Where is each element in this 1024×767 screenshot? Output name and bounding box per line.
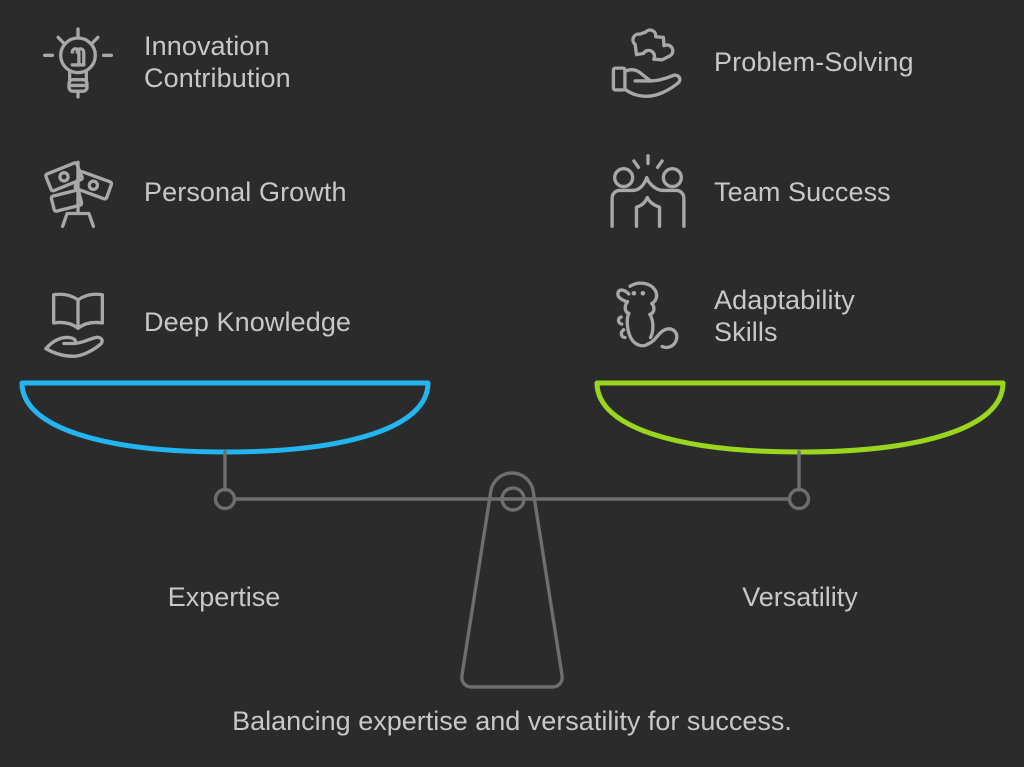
attribute-label: Problem-Solving: [714, 47, 914, 79]
right-pan-connector: [790, 452, 809, 509]
money-tree-icon: [30, 145, 126, 241]
attribute-label: Deep Knowledge: [144, 307, 351, 339]
balance-scale-graphic: [0, 370, 1024, 700]
attribute-label: Team Success: [714, 177, 891, 209]
attribute-item-innovation-contribution: InnovationContribution: [30, 8, 291, 118]
pivot-circle-icon: [216, 490, 235, 509]
attribute-label: Personal Growth: [144, 177, 347, 209]
lightbulb-icon: [30, 15, 126, 111]
left-side-title: Expertise: [74, 582, 374, 613]
attribute-item-personal-growth: Personal Growth: [30, 138, 347, 248]
attribute-item-team-success: Team Success: [600, 138, 891, 248]
balance-fulcrum: [462, 473, 562, 687]
book-in-hand-icon: [30, 275, 126, 371]
attribute-item-problem-solving: Problem-Solving: [600, 8, 914, 118]
pivot-circle-icon: [790, 490, 809, 509]
team-highfive-icon: [600, 145, 696, 241]
attribute-label: AdaptabilitySkills: [714, 285, 855, 349]
chameleon-icon: [600, 269, 696, 365]
right-side-title: Versatility: [650, 582, 950, 613]
puzzle-in-hand-icon: [600, 15, 696, 111]
balance-pan-left: [22, 383, 428, 452]
caption-text: Balancing expertise and versatility for …: [0, 706, 1024, 737]
balance-pan-right: [597, 383, 1003, 452]
attribute-label: InnovationContribution: [144, 31, 291, 95]
left-pan-connector: [216, 452, 235, 509]
attribute-item-deep-knowledge: Deep Knowledge: [30, 268, 351, 378]
attribute-item-adaptability-skills: AdaptabilitySkills: [600, 262, 855, 372]
infographic-canvas: InnovationContribution: [0, 0, 1024, 767]
